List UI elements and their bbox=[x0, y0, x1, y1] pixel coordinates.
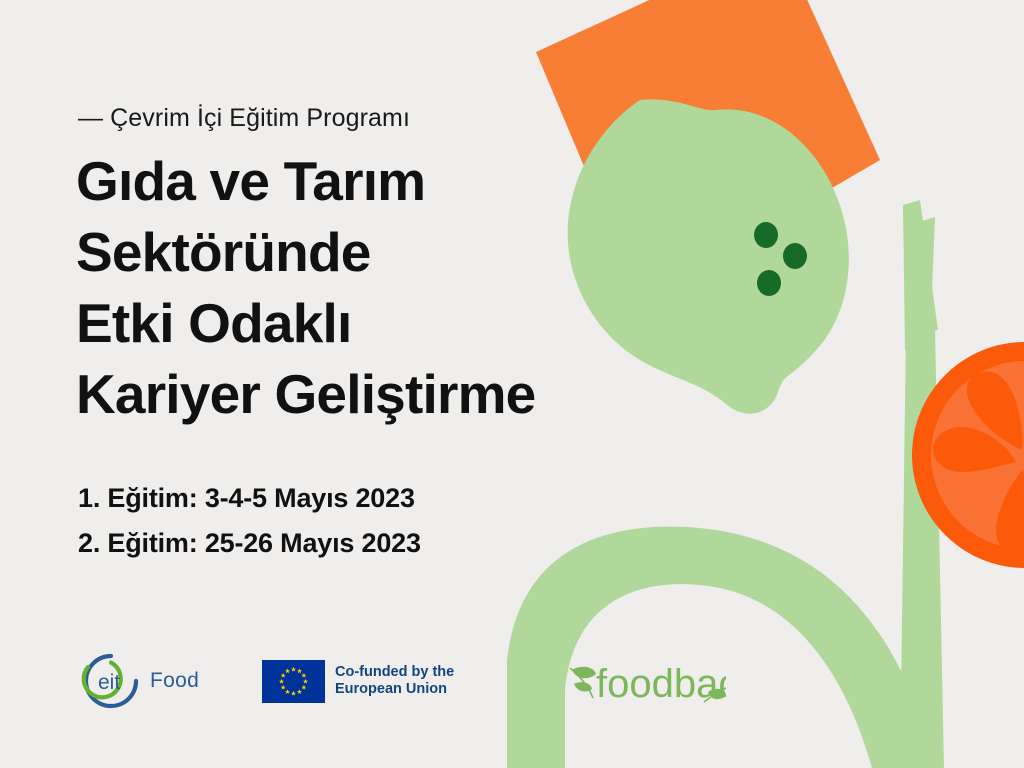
eyebrow-label: — Çevrim İçi Eğitim Programı bbox=[78, 104, 410, 133]
eit-circular-mark-icon: eit bbox=[78, 650, 144, 712]
foodback-wordmark-icon: foodback bbox=[566, 654, 726, 708]
session-dates: 1. Eğitim: 3-4-5 Mayıs 2023 2. Eğitim: 2… bbox=[78, 476, 421, 566]
page-title: Gıda ve Tarım Sektöründe Etki Odaklı Kar… bbox=[76, 146, 535, 430]
promo-poster: — Çevrim İçi Eğitim Programı Gıda ve Tar… bbox=[0, 0, 1024, 768]
foodback-logo: foodback bbox=[566, 654, 726, 708]
eit-food-wordmark: Food bbox=[150, 669, 199, 693]
content-layer: — Çevrim İçi Eğitim Programı Gıda ve Tar… bbox=[0, 0, 1024, 768]
european-union-flag-icon bbox=[262, 660, 325, 703]
eu-cofunding-line-2: European Union bbox=[335, 681, 454, 698]
headline-line-3: Etki Odaklı bbox=[76, 288, 535, 359]
session-date-2: 2. Eğitim: 25-26 Mayıs 2023 bbox=[78, 521, 421, 566]
logo-row: eit Food bbox=[78, 645, 726, 717]
foodback-leaf-left-icon bbox=[570, 667, 596, 698]
svg-text:eit: eit bbox=[98, 671, 120, 694]
headline-line-4: Kariyer Geliştirme bbox=[76, 359, 535, 430]
eu-cofunding-logo: Co-funded by the European Union bbox=[262, 660, 454, 703]
eu-cofunding-line-1: Co-funded by the bbox=[335, 664, 454, 681]
eu-cofunding-text: Co-funded by the European Union bbox=[335, 664, 454, 698]
eit-food-logo: eit Food bbox=[78, 650, 228, 712]
headline-line-2: Sektöründe bbox=[76, 217, 535, 288]
headline-line-1: Gıda ve Tarım bbox=[76, 146, 535, 217]
session-date-1: 1. Eğitim: 3-4-5 Mayıs 2023 bbox=[78, 476, 421, 521]
